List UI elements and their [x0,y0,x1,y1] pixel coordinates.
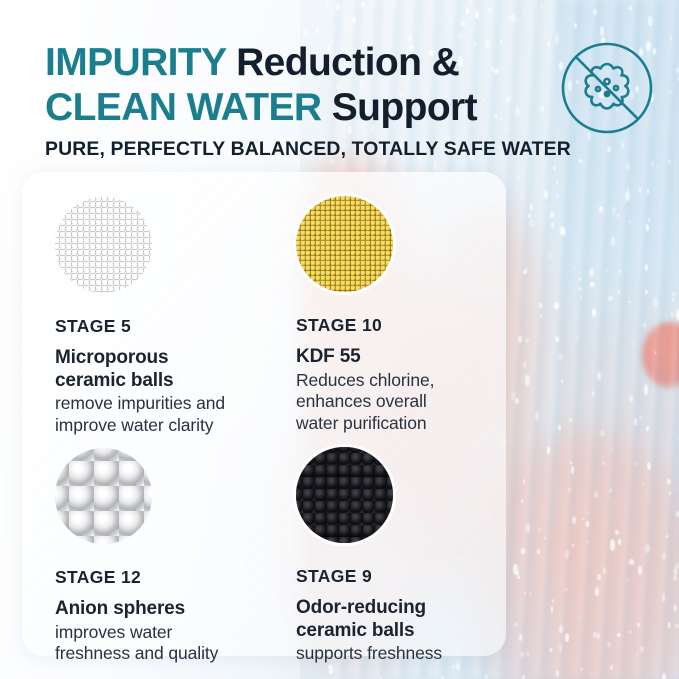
water-droplet [565,633,569,642]
water-droplet [609,488,612,493]
water-droplet [669,492,670,495]
title-highlight-1: IMPURITY [45,41,226,84]
water-droplet [586,540,588,543]
water-droplet [645,264,648,271]
water-droplet [629,6,632,11]
water-droplet [525,268,527,273]
water-droplet [558,425,561,430]
stage-number-2: STAGE 10 [296,315,434,336]
water-droplet [618,290,620,295]
water-droplet [523,361,526,368]
stage-name-1-line2: ceramic balls [55,370,173,391]
water-droplet [615,530,619,535]
stage-desc-2-line3: water purification [296,413,426,433]
water-droplet [662,553,666,561]
water-droplet [544,190,548,199]
odor-reducing-ceramic-balls-photo [296,447,393,543]
water-droplet [519,634,522,641]
water-droplet [579,617,580,619]
water-droplet [639,416,642,421]
stage-desc-3-line2: freshness and quality [55,643,218,663]
water-droplet [662,593,666,602]
water-droplet [516,175,520,181]
title-highlight-2: CLEAN WATER [45,86,322,129]
water-droplet [627,579,629,582]
water-droplet [676,511,679,517]
stage-name-2-line1: KDF 55 [296,346,361,367]
water-droplet [638,566,642,575]
water-droplet [326,1,330,9]
water-droplet [565,588,567,591]
water-droplet [458,34,462,38]
water-droplet [667,479,671,484]
water-droplet [315,27,320,35]
water-droplet [529,592,531,595]
water-droplet [330,8,332,12]
water-droplet [517,576,520,579]
water-droplet [675,624,679,629]
water-droplet [539,303,541,308]
water-droplet [644,384,648,395]
water-droplet [526,524,530,533]
water-droplet [488,7,491,14]
water-droplet [544,537,546,540]
water-droplet [597,633,600,639]
water-droplet [579,159,582,163]
stage-name-1-line1: Microporous [55,347,168,368]
water-droplet [619,269,621,273]
water-droplet [599,586,601,589]
stage-item-1: STAGE 5 Microporous ceramic balls remove… [55,197,225,436]
water-droplet [572,516,576,524]
water-droplet [590,282,594,287]
water-droplet [537,549,540,553]
water-droplet [611,237,615,246]
water-droplet [328,665,332,670]
water-droplet [576,336,578,339]
water-droplet [544,33,547,37]
stage-desc-2-line1: Reduces chlorine, [296,370,434,390]
kdf-55-granules-photo [296,196,393,292]
water-droplet [629,559,633,564]
stage-desc-3: improves water freshness and quality [55,622,218,665]
stage-name-4-line2: ceramic balls [296,620,414,641]
stage-desc-4: supports freshness [296,643,442,665]
water-droplet [528,214,531,219]
water-droplet [484,4,486,7]
water-droplet [637,623,640,627]
water-droplet [645,544,650,553]
water-droplet [676,477,677,479]
water-droplet [647,189,650,194]
water-droplet [625,191,630,202]
water-droplet [572,544,574,548]
water-droplet [550,648,553,652]
stage-number-4: STAGE 9 [296,566,442,587]
water-droplet [666,535,669,538]
water-droplet [570,461,572,465]
water-droplet [634,418,637,426]
water-droplet [566,23,567,24]
stage-number-3: STAGE 12 [55,567,218,588]
water-droplet [579,277,581,281]
water-droplet [617,633,621,637]
water-droplet [603,567,606,574]
water-droplet [521,195,523,198]
water-droplet [607,334,608,335]
water-droplet [466,8,469,14]
water-droplet [469,0,472,5]
water-droplet [611,296,613,301]
water-droplet [551,606,554,613]
water-droplet [525,375,530,386]
water-droplet [540,315,542,318]
stage-desc-1-line2: improve water clarity [55,415,213,435]
water-droplet [617,214,620,217]
water-droplet [628,301,630,303]
water-droplet [452,665,454,668]
water-droplet [561,380,563,383]
water-droplet [538,527,541,532]
water-droplet [540,34,542,36]
water-droplet [650,23,652,26]
water-droplet [637,654,638,656]
water-droplet [591,672,592,674]
water-droplet [607,642,611,647]
water-droplet [551,222,554,228]
water-droplet [646,224,649,231]
water-droplet [595,587,599,596]
water-droplet [627,187,629,191]
stage-desc-1-line1: remove impurities and [55,393,225,413]
stage-name-3-line1: Anion spheres [55,598,185,619]
water-droplet [586,521,589,527]
water-droplet [485,10,487,12]
water-droplet [515,398,519,404]
water-droplet [579,287,583,291]
water-droplet [594,491,598,498]
water-droplet [612,207,616,213]
water-droplet [541,5,543,9]
water-droplet [575,266,577,270]
water-droplet [639,188,642,192]
water-droplet [324,17,325,20]
water-droplet [565,549,569,559]
water-droplet [574,23,577,29]
water-droplet [520,652,525,657]
water-droplet [597,372,601,380]
water-droplet [485,674,488,679]
stage-name-2: KDF 55 [296,346,434,369]
stage-item-4: STAGE 9 Odor-reducing ceramic balls supp… [296,447,442,665]
water-droplet [669,90,672,94]
water-droplet [671,312,675,317]
stage-desc-4-line1: supports freshness [296,643,442,663]
water-droplet [610,539,615,551]
water-droplet [559,625,563,633]
water-droplet [530,204,533,210]
water-droplet [622,143,625,148]
water-droplet [629,396,633,403]
water-droplet [668,160,671,164]
water-droplet [615,502,616,504]
water-droplet [655,351,656,354]
stage-item-2: STAGE 10 KDF 55 Reduces chlorine, enhanc… [296,196,434,434]
water-droplet [599,206,603,212]
water-droplet [632,343,633,344]
water-droplet [592,308,596,317]
water-droplet [647,462,651,471]
water-droplet [556,181,558,185]
water-droplet [674,489,676,491]
water-droplet [548,253,552,258]
water-droplet [648,218,650,223]
water-droplet [558,354,563,360]
water-droplet [518,20,519,22]
water-droplet [556,670,559,677]
page-title: IMPURITY Reduction & CLEAN WATER Support [45,43,560,128]
water-droplet [514,622,517,627]
water-droplet [433,160,438,172]
water-droplet [373,23,375,27]
stage-desc-3-line1: improves water [55,622,172,642]
page-subtitle: PURE, PERFECTLY BALANCED, TOTALLY SAFE W… [45,138,571,161]
water-droplet [626,162,630,172]
water-droplet [638,252,639,255]
water-droplet [524,591,526,595]
water-droplet [668,622,671,628]
stage-desc-2: Reduces chlorine, enhances overall water… [296,370,434,435]
stage-desc-1: remove impurities and improve water clar… [55,393,225,436]
water-droplet [545,205,548,208]
stage-name-1: Microporous ceramic balls [55,347,225,392]
water-droplet [662,673,666,679]
water-droplet [521,548,525,555]
water-droplet [672,297,674,301]
stage-item-3: STAGE 12 Anion spheres improves water fr… [55,448,218,665]
water-droplet [535,412,539,420]
water-droplet [523,479,525,484]
water-droplet [667,318,669,322]
water-droplet [657,165,659,168]
water-droplet [642,483,644,486]
water-droplet [336,4,340,10]
water-droplet [428,672,429,674]
water-droplet [640,646,644,652]
water-droplet [645,290,648,294]
water-droplet [606,269,608,272]
water-droplet [571,466,574,474]
water-droplet [568,487,571,493]
stage-name-4-line1: Odor-reducing [296,597,426,618]
water-droplet [456,663,460,669]
water-droplet [607,229,609,232]
microporous-ceramic-balls-photo [55,197,152,293]
water-droplet [570,225,571,228]
water-droplet [634,463,636,465]
water-droplet [518,335,523,343]
water-droplet [303,28,307,37]
water-droplet [646,426,649,432]
water-droplet [610,447,612,450]
infographic-root: IMPURITY Reduction & CLEAN WATER Support… [0,0,679,679]
water-droplet [547,446,551,454]
water-droplet [512,14,516,23]
water-droplet [668,242,670,244]
water-droplet [674,568,678,575]
water-droplet [600,26,605,36]
water-droplet [522,675,525,679]
title-rest-2: Support [322,86,478,129]
water-droplet [529,219,534,227]
water-droplet [553,166,557,170]
water-droplet [592,391,595,396]
stage-number-1: STAGE 5 [55,316,225,337]
water-droplet [661,127,663,130]
water-droplet [569,418,572,422]
water-droplet [556,337,558,342]
title-rest-1: Reduction & [226,41,459,84]
water-droplet [526,339,528,342]
water-droplet [607,146,611,153]
water-droplet [602,461,605,465]
water-droplet [672,292,675,296]
water-droplet [580,668,583,671]
water-droplet [673,575,678,582]
water-droplet [670,35,672,41]
water-droplet [618,539,621,545]
stages-card: STAGE 5 Microporous ceramic balls remove… [22,172,506,656]
water-droplet [352,17,356,23]
water-droplet [597,574,601,579]
water-droplet [653,297,658,307]
water-droplet [559,644,562,651]
water-droplet [589,268,594,277]
water-droplet [608,296,611,300]
water-droplet [643,323,646,328]
virus-blocked-icon [557,38,657,138]
water-droplet [342,19,344,23]
water-droplet [555,302,560,309]
water-droplet [521,499,523,502]
water-droplet [547,180,550,184]
water-droplet [629,221,631,224]
water-droplet [610,665,613,670]
water-droplet [552,599,554,603]
water-droplet [593,632,597,638]
water-droplet [582,518,584,520]
stage-name-4: Odor-reducing ceramic balls [296,597,442,642]
water-droplet [403,39,404,41]
water-droplet [600,430,605,436]
water-droplet [475,11,479,18]
water-droplet [361,2,365,7]
water-droplet [530,10,531,13]
anion-spheres-photo [55,448,152,544]
water-droplet [586,511,589,514]
water-droplet [464,22,466,26]
stage-name-3: Anion spheres [55,598,218,621]
water-droplet [674,605,677,611]
water-droplet [651,161,654,166]
water-droplet [580,296,582,299]
water-droplet [593,9,597,16]
stage-desc-2-line2: enhances overall [296,391,427,411]
water-droplet [550,211,554,218]
water-droplet [675,563,679,569]
water-droplet [393,1,397,10]
water-droplet [629,631,631,633]
water-droplet [556,194,560,198]
water-droplet [527,651,529,657]
